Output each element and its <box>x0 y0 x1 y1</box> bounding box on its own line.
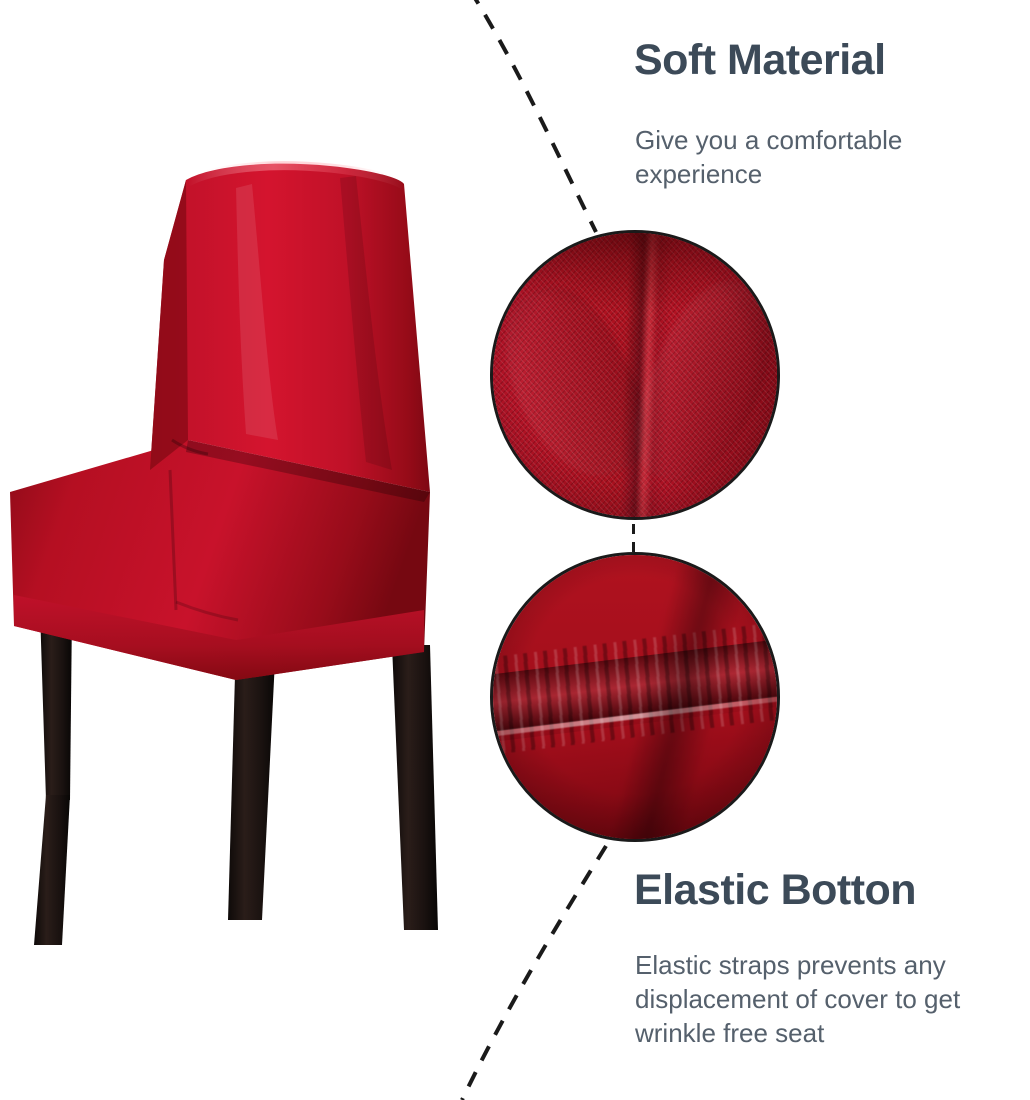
elastic-hem-closeup-image <box>493 555 777 839</box>
callout-body-elastic-botton: Elastic straps prevents any displacement… <box>635 948 1007 1050</box>
callout-body-soft-material: Give you a comfortable experience <box>635 123 995 191</box>
fabric-closeup-image <box>493 233 777 517</box>
circle-connector-dash <box>632 524 635 552</box>
chair-with-red-cover <box>0 140 520 960</box>
callout-headline-elastic-botton: Elastic Botton <box>634 866 916 914</box>
infographic-canvas: Soft Material Give you a comfortable exp… <box>0 0 1030 1100</box>
callout-headline-soft-material: Soft Material <box>634 36 886 84</box>
elastic-hem-closeup-circle <box>490 552 780 842</box>
fabric-closeup-circle <box>490 230 780 520</box>
